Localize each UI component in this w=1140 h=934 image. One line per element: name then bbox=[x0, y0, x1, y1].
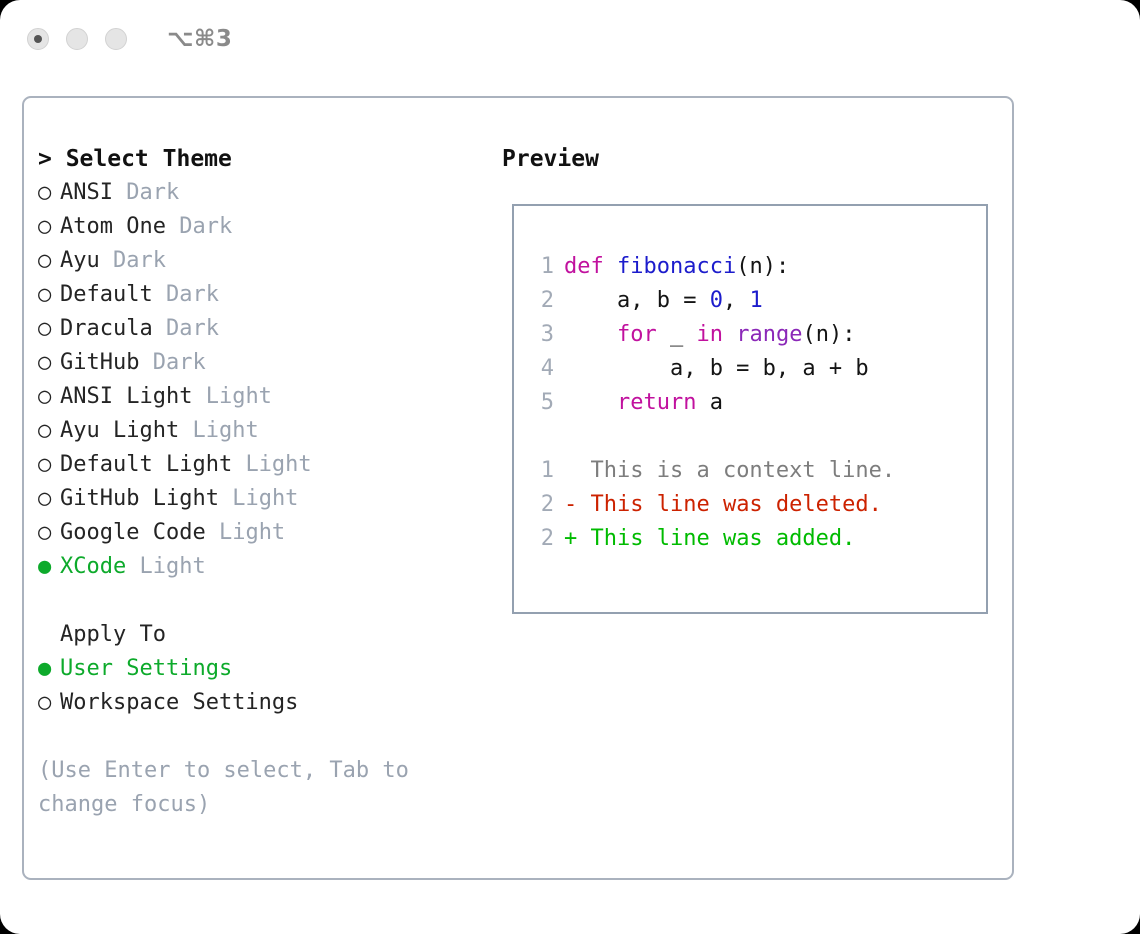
code-line: 3 for _ in range(n): bbox=[514, 318, 986, 352]
theme-name-label: Dracula bbox=[60, 316, 153, 341]
preview-gap bbox=[514, 420, 986, 454]
theme-list-item[interactable]: ○Ayu Dark bbox=[38, 244, 488, 278]
traffic-light-3-icon[interactable] bbox=[105, 28, 127, 50]
diff-line: 2- This line was deleted. bbox=[514, 488, 986, 522]
traffic-light-active-dot bbox=[34, 35, 42, 43]
code-token: for bbox=[617, 322, 657, 347]
theme-list-item[interactable]: ○Ayu Light Light bbox=[38, 414, 488, 448]
theme-list-item[interactable]: ○Default Light Light bbox=[38, 448, 488, 482]
theme-name-label: GitHub bbox=[60, 350, 139, 375]
code-token: a, b = b, a + b bbox=[564, 356, 869, 381]
theme-kind-badge: Light bbox=[232, 486, 298, 511]
code-line: 2 a, b = 0, 1 bbox=[514, 284, 986, 318]
code-token bbox=[564, 322, 617, 347]
diff-marker bbox=[564, 458, 577, 483]
theme-name-label: Ayu bbox=[60, 248, 100, 273]
apply-to-heading: Apply To bbox=[38, 618, 488, 652]
diff-text: This line was added. bbox=[577, 526, 855, 551]
theme-kind-badge: Light bbox=[192, 418, 258, 443]
theme-name-label: Atom One bbox=[60, 214, 166, 239]
theme-list-item[interactable]: ●XCode Light bbox=[38, 550, 488, 584]
apply-to-list: ●User Settings○Workspace Settings bbox=[38, 652, 488, 720]
diff-line: 2+ This line was added. bbox=[514, 522, 986, 556]
app-window: ⌥⌘3 > Select Theme ○ANSI Dark○Atom One D… bbox=[0, 0, 1140, 934]
code-preview: 1def fibonacci(n):2 a, b = 0, 13 for _ i… bbox=[514, 250, 986, 420]
theme-kind-badge: Dark bbox=[166, 282, 219, 307]
code-token: return bbox=[617, 390, 696, 415]
theme-name-label: ANSI bbox=[60, 180, 113, 205]
code-token: def bbox=[564, 254, 617, 279]
diff-marker: + bbox=[564, 526, 577, 551]
preview-heading: Preview bbox=[502, 142, 1002, 176]
radio-unselected-icon[interactable]: ○ bbox=[38, 176, 60, 210]
theme-name-label: Google Code bbox=[60, 520, 206, 545]
theme-name-label: Ayu Light bbox=[60, 418, 179, 443]
code-line: 4 a, b = b, a + b bbox=[514, 352, 986, 386]
theme-list: ○ANSI Dark○Atom One Dark○Ayu Dark○Defaul… bbox=[38, 176, 488, 584]
code-token: 0 bbox=[710, 288, 723, 313]
diff-line-number: 2 bbox=[526, 488, 554, 522]
diff-text: This line was deleted. bbox=[577, 492, 882, 517]
theme-list-item[interactable]: ○Dracula Dark bbox=[38, 312, 488, 346]
theme-list-item[interactable]: ○ANSI Light Light bbox=[38, 380, 488, 414]
theme-kind-badge: Light bbox=[206, 384, 272, 409]
theme-name-label: ANSI Light bbox=[60, 384, 192, 409]
radio-unselected-icon[interactable]: ○ bbox=[38, 312, 60, 346]
list-spacer bbox=[38, 584, 488, 618]
radio-unselected-icon[interactable]: ○ bbox=[38, 380, 60, 414]
theme-kind-badge: Light bbox=[245, 452, 311, 477]
theme-kind-badge: Dark bbox=[113, 248, 166, 273]
code-line-number: 4 bbox=[526, 352, 554, 386]
code-token: a bbox=[696, 390, 723, 415]
main-panel: > Select Theme ○ANSI Dark○Atom One Dark○… bbox=[22, 96, 1014, 880]
diff-line-number: 1 bbox=[526, 454, 554, 488]
radio-unselected-icon[interactable]: ○ bbox=[38, 346, 60, 380]
theme-kind-badge: Dark bbox=[179, 214, 232, 239]
code-token: a, b = bbox=[564, 288, 710, 313]
theme-name-label: Default bbox=[60, 282, 153, 307]
diff-preview: 1 This is a context line.2- This line wa… bbox=[514, 454, 986, 556]
keyboard-hint-text: (Use Enter to select, Tab to change focu… bbox=[38, 754, 448, 822]
code-line-number: 3 bbox=[526, 318, 554, 352]
code-token: , bbox=[723, 288, 750, 313]
preview-column: Preview 1def fibonacci(n):2 a, b = 0, 13… bbox=[502, 142, 1002, 176]
code-token: (n): bbox=[736, 254, 789, 279]
code-token bbox=[564, 390, 617, 415]
code-line-number: 5 bbox=[526, 386, 554, 420]
apply-to-label: Workspace Settings bbox=[60, 690, 298, 715]
theme-list-item[interactable]: ○Atom One Dark bbox=[38, 210, 488, 244]
theme-kind-badge: Light bbox=[139, 554, 205, 579]
apply-to-item[interactable]: ○Workspace Settings bbox=[38, 686, 488, 720]
radio-unselected-icon[interactable]: ○ bbox=[38, 414, 60, 448]
code-token bbox=[723, 322, 736, 347]
radio-unselected-icon[interactable]: ○ bbox=[38, 686, 60, 720]
code-token: in bbox=[696, 322, 723, 347]
theme-list-item[interactable]: ○Default Dark bbox=[38, 278, 488, 312]
theme-kind-badge: Dark bbox=[153, 350, 206, 375]
theme-list-item[interactable]: ○Google Code Light bbox=[38, 516, 488, 550]
apply-to-item[interactable]: ●User Settings bbox=[38, 652, 488, 686]
code-token: range bbox=[736, 322, 802, 347]
diff-line-number: 2 bbox=[526, 522, 554, 556]
code-line: 1def fibonacci(n): bbox=[514, 250, 986, 284]
theme-kind-badge: Dark bbox=[126, 180, 179, 205]
theme-kind-badge: Light bbox=[219, 520, 285, 545]
theme-list-item[interactable]: ○GitHub Light Light bbox=[38, 482, 488, 516]
theme-list-item[interactable]: ○ANSI Dark bbox=[38, 176, 488, 210]
keyboard-shortcut-label: ⌥⌘3 bbox=[167, 26, 232, 52]
radio-selected-icon[interactable]: ● bbox=[38, 652, 60, 686]
code-token: (n): bbox=[802, 322, 855, 347]
preview-box: 1def fibonacci(n):2 a, b = 0, 13 for _ i… bbox=[512, 204, 988, 614]
radio-unselected-icon[interactable]: ○ bbox=[38, 244, 60, 278]
theme-name-label: GitHub Light bbox=[60, 486, 219, 511]
theme-name-label: XCode bbox=[60, 554, 126, 579]
theme-list-item[interactable]: ○GitHub Dark bbox=[38, 346, 488, 380]
radio-unselected-icon[interactable]: ○ bbox=[38, 278, 60, 312]
code-token: _ bbox=[657, 322, 697, 347]
code-line: 5 return a bbox=[514, 386, 986, 420]
radio-unselected-icon[interactable]: ○ bbox=[38, 210, 60, 244]
theme-kind-badge: Dark bbox=[166, 316, 219, 341]
code-token: 1 bbox=[749, 288, 762, 313]
diff-marker: - bbox=[564, 492, 577, 517]
theme-selection-column: > Select Theme ○ANSI Dark○Atom One Dark○… bbox=[38, 142, 488, 822]
code-token: fibonacci bbox=[617, 254, 736, 279]
diff-line: 1 This is a context line. bbox=[514, 454, 986, 488]
traffic-light-2-icon[interactable] bbox=[66, 28, 88, 50]
apply-to-label: User Settings bbox=[60, 656, 232, 681]
code-line-number: 1 bbox=[526, 250, 554, 284]
traffic-light-active-icon[interactable] bbox=[27, 28, 49, 50]
diff-text: This is a context line. bbox=[577, 458, 895, 483]
select-theme-heading: > Select Theme bbox=[38, 142, 488, 176]
radio-unselected-icon[interactable]: ○ bbox=[38, 448, 60, 482]
theme-name-label: Default Light bbox=[60, 452, 232, 477]
radio-selected-icon[interactable]: ● bbox=[38, 550, 60, 584]
radio-unselected-icon[interactable]: ○ bbox=[38, 482, 60, 516]
title-bar: ⌥⌘3 bbox=[0, 0, 1140, 78]
radio-unselected-icon[interactable]: ○ bbox=[38, 516, 60, 550]
code-line-number: 2 bbox=[526, 284, 554, 318]
